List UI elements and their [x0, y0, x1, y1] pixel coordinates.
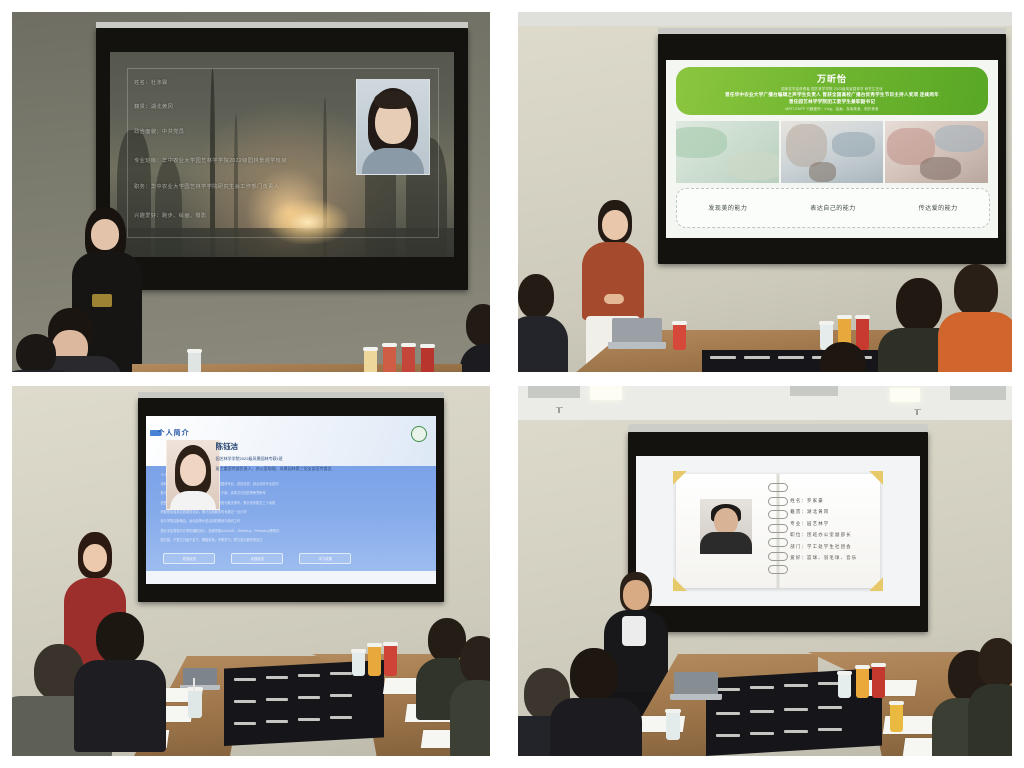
- drink-cup: [188, 352, 201, 372]
- photo-collage: 姓名：杜沛霖 籍贯：湖北黄冈 政治面貌：中共党员 专业班级：华中农业大学园艺林学…: [0, 0, 1024, 768]
- drink-cup: [384, 645, 397, 676]
- slide-sunset-profile: 姓名：杜沛霖 籍贯：湖北黄冈 政治面貌：中共党员 专业班级：华中农业大学园艺林学…: [110, 52, 454, 257]
- slide-blue-profile: 个人简介 个人经历： 本科就读于华中农业大学园艺林学学院风景园林专业，成绩优异，…: [146, 416, 436, 584]
- capability-label: 发现美的能力: [708, 203, 747, 212]
- slide-text-line: 政治面貌：中共党员: [134, 128, 184, 135]
- slide-photo: [676, 121, 779, 183]
- notebook-line: 姓名：罗家豪: [790, 498, 857, 504]
- slide-body-line: 座右铭：千里之行始于足下，脚踏实地，不断学习，努力成为更好的自己: [161, 537, 263, 542]
- notebook-corner: [869, 577, 883, 591]
- slide-presenter-name: 陈钰洁: [216, 441, 239, 452]
- slide-notebook: 姓名：罗家豪 籍贯：湖北黄冈 专业：园艺林学 职位：团班办公室副部长 部门：学工…: [636, 456, 920, 606]
- drink-cup: [666, 712, 680, 740]
- audience-person: [970, 638, 1012, 756]
- slide-title: 个人简介: [158, 428, 190, 438]
- collage-panel-bottom-right: 姓名：罗家豪 籍贯：湖北黄冈 专业：园艺林学 职位：团班办公室副部长 部门：学工…: [518, 386, 1012, 756]
- notebook-ring: [768, 538, 788, 547]
- capability-label: 表达自己的能力: [810, 203, 856, 212]
- slide-text-line: 专业班级：华中农业大学园艺林学学院2022级园林景观学班级: [134, 157, 287, 164]
- slide-button[interactable]: 学习成果: [299, 553, 351, 564]
- slide-portrait-photo: [700, 499, 752, 554]
- audience-person: [452, 636, 490, 756]
- slide-portrait-photo: [356, 79, 430, 175]
- ceiling-light: [890, 388, 920, 402]
- notebook-line: 职位：团班办公室副部长: [790, 532, 857, 538]
- slide-green-banner: 万昕怡 国家奖学金获得者 园艺林学学院 2023级风景园林学 研究生在读 曾任华…: [676, 67, 988, 115]
- projection-screen-surface: 个人简介 个人经历： 本科就读于华中农业大学园艺林学学院风景园林专业，成绩优异，…: [146, 416, 436, 584]
- paper-sheet: [861, 680, 917, 696]
- slide-photo-strip: [676, 121, 988, 183]
- slide-photo: [781, 121, 884, 183]
- drink-cup: [383, 346, 396, 372]
- drink-cup: [368, 646, 381, 676]
- projection-screen-frame: 万昕怡 国家奖学金获得者 园艺林学学院 2023级风景园林学 研究生在读 曾任华…: [658, 34, 1006, 264]
- notebook-ring: [768, 510, 788, 519]
- slide-subtitle: 国家奖学金获得者 园艺林学学院 2023级风景园林学 研究生在读: [781, 86, 883, 91]
- notebook-corner: [673, 471, 687, 485]
- notebook-line: 专业：园艺林学: [790, 521, 857, 527]
- screen-housing-bar: [138, 392, 444, 398]
- audience-person: [74, 612, 160, 752]
- projection-screen-surface: 姓名：杜沛霖 籍贯：湖北黄冈 政治面貌：中共党员 专业班级：华中农业大学园艺林学…: [110, 52, 454, 257]
- notebook-page-spread: 姓名：罗家豪 籍贯：湖北黄冈 专业：园艺林学 职位：团班办公室副部长 部门：学工…: [676, 474, 880, 588]
- notebook-ring: [768, 552, 788, 561]
- slide-text-line: 姓名：杜沛霖: [134, 79, 168, 86]
- audience-person: [518, 274, 566, 372]
- collage-panel-top-left: 姓名：杜沛霖 籍贯：湖北黄冈 政治面貌：中共党员 专业班级：华中农业大学园艺林学…: [12, 12, 490, 372]
- collage-panel-bottom-left: 个人简介 个人经历： 本科就读于华中农业大学园艺林学学院风景园林专业，成绩优异，…: [12, 386, 490, 756]
- slide-body-line: 积极参加各类志愿服务活动，累计志愿服务时长超过一百小时: [161, 509, 247, 514]
- slide-capability-box: 发现美的能力 表达自己的能力 传达爱的能力: [676, 188, 990, 227]
- notebook-corner: [869, 471, 883, 485]
- notebook-ring: [768, 524, 788, 533]
- slide-body-line: 擅长手绘表现与计算机辅助设计，熟练掌握AutoCAD、SketchUp、Phot…: [161, 528, 280, 533]
- slide-subtitle: 曾任园艺林学学院团工委学生兼职副书记: [789, 99, 875, 105]
- slide-photo: [885, 121, 988, 183]
- slide-green-header: 万昕怡 国家奖学金获得者 园艺林学学院 2023级风景园林学 研究生在读 曾任华…: [666, 60, 998, 238]
- notebook-ring: [768, 565, 788, 574]
- drink-cup: [872, 666, 885, 698]
- audience-person: [804, 342, 882, 372]
- notebook-corner: [673, 577, 687, 591]
- projection-screen-surface: 万昕怡 国家奖学金获得者 园艺林学学院 2023级风景园林学 研究生在读 曾任华…: [666, 60, 998, 238]
- screen-housing-bar: [658, 28, 1006, 34]
- audience-person: [550, 648, 636, 756]
- slide-subtitle: MBTI-ENFP 兴趣爱好：Vlog、绘画、探索美食、制作美食: [785, 106, 878, 111]
- slide-subtitle: 班工委宣传部负责人、办公室助理、风景园林第三党支部宣传委员: [216, 466, 332, 472]
- slide-subtitle: 园艺林学学院2022级风景园林专硕1班: [216, 456, 283, 462]
- notebook-line: 爱好：篮球、羽毛球、音乐: [790, 555, 857, 561]
- notebook-text-list: 姓名：罗家豪 籍贯：湖北黄冈 专业：园艺林学 职位：团班办公室副部长 部门：学工…: [790, 498, 857, 567]
- slide-text-line: 职务：华中农业大学园艺林学学院研究生会工作部门负责人: [134, 183, 279, 190]
- projection-screen-frame: 姓名：罗家豪 籍贯：湖北黄冈 专业：园艺林学 职位：团班办公室副部长 部门：学工…: [628, 432, 928, 632]
- notebook-line: 籍贯：湖北黄冈: [790, 509, 857, 515]
- laptop: [670, 672, 722, 704]
- screen-housing-bar: [96, 22, 468, 28]
- drink-cup: [188, 690, 202, 718]
- projection-screen-surface: 姓名：罗家豪 籍贯：湖北黄冈 专业：园艺林学 职位：团班办公室副部长 部门：学工…: [636, 456, 920, 606]
- audience-person: [12, 334, 76, 372]
- drink-cup: [364, 350, 377, 372]
- notebook-ring: [768, 497, 788, 506]
- slide-button[interactable]: 实践经历: [231, 553, 283, 564]
- capability-label: 传达爱的能力: [919, 203, 958, 212]
- slide-footer: [146, 571, 436, 584]
- projection-screen-frame: 个人简介 个人经历： 本科就读于华中农业大学园艺林学学院风景园林专业，成绩优异，…: [138, 398, 444, 602]
- slide-body-line: 参与学院迎新晚会、运动会等大型活动的策划与组织工作: [161, 518, 241, 523]
- meeting-room-scene-4: 姓名：罗家豪 籍贯：湖北黄冈 专业：园艺林学 职位：团班办公室副部长 部门：学工…: [518, 386, 1012, 756]
- drink-cup: [838, 674, 851, 698]
- laptop: [608, 318, 666, 352]
- slide-portrait-photo: [166, 440, 220, 510]
- audience-person: [938, 264, 1012, 372]
- ceiling-vent: [528, 386, 580, 398]
- meeting-room-scene-2: 万昕怡 国家奖学金获得者 园艺林学学院 2023级风景园林学 研究生在读 曾任华…: [518, 12, 1012, 372]
- notebook-line: 部门：学工处学生社团会: [790, 544, 857, 550]
- drink-cup: [402, 346, 415, 372]
- notebook-ring: [768, 483, 788, 492]
- ceiling-light: [590, 386, 622, 400]
- drink-cup: [352, 652, 365, 676]
- sprinkler-icon: [916, 410, 918, 415]
- drink-cup: [421, 347, 434, 372]
- sprinkler-icon: [558, 408, 560, 413]
- slide-text-line: 籍贯：湖北黄冈: [134, 103, 173, 110]
- meeting-room-scene-3: 个人简介 个人经历： 本科就读于华中农业大学园艺林学学院风景园林专业，成绩优异，…: [12, 386, 490, 756]
- collage-panel-top-right: 万昕怡 国家奖学金获得者 园艺林学学院 2023级风景园林学 研究生在读 曾任华…: [518, 12, 1012, 372]
- slide-button-row: 获奖经历 实践经历 学习成果: [163, 553, 351, 564]
- screen-housing-bar: [628, 424, 928, 432]
- slide-subtitle: 曾任华中农业大学广播台编辑之声学生负责人 曾获全国高校广播台优秀学生节目主持人奖…: [725, 92, 939, 98]
- drink-cup: [673, 324, 686, 350]
- drink-cup: [856, 668, 869, 698]
- ceiling-panel: [518, 12, 1012, 26]
- ceiling-vent: [790, 386, 838, 396]
- ceiling-vent: [950, 386, 1006, 400]
- audience-person: [464, 304, 490, 372]
- slide-button[interactable]: 获奖经历: [163, 553, 215, 564]
- meeting-room-scene-1: 姓名：杜沛霖 籍贯：湖北黄冈 政治面貌：中共党员 专业班级：华中农业大学园艺林学…: [12, 12, 490, 372]
- drink-cup: [890, 704, 903, 732]
- slide-presenter-name: 万昕怡: [817, 72, 847, 85]
